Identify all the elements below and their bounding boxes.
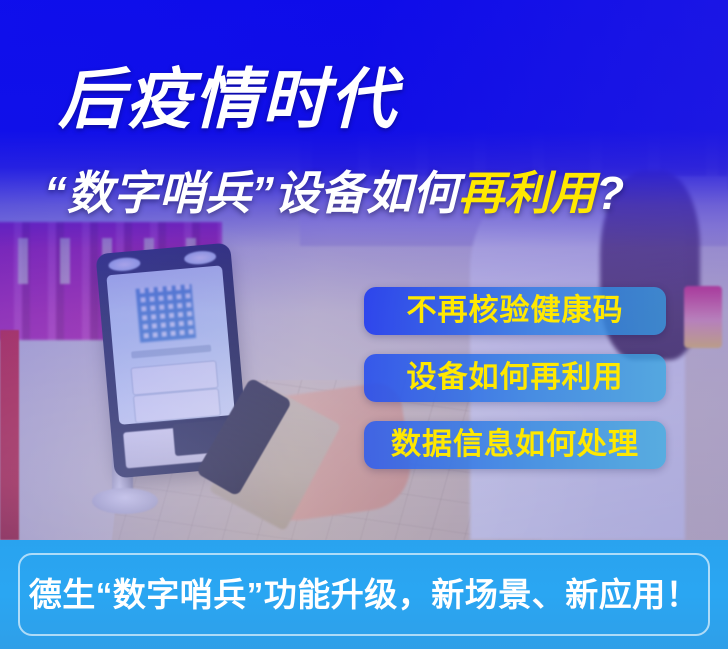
headline-line-1: 后疫情时代: [58, 66, 398, 132]
bottom-banner-frame: 德生“数字哨兵”功能升级，新场景、新应用！: [18, 553, 710, 636]
feature-pill[interactable]: 设备如何再利用: [364, 354, 666, 402]
feature-pill-label: 设备如何再利用: [407, 363, 624, 393]
poster: 后疫情时代 “数字哨兵”设备如何再利用? 不再核验健康码 设备如何再利用 数据信…: [0, 0, 728, 649]
headline-line-2-suffix: ?: [596, 167, 624, 219]
feature-pill-list: 不再核验健康码 设备如何再利用 数据信息如何处理: [364, 287, 666, 488]
bottom-banner: 德生“数字哨兵”功能升级，新场景、新应用！: [0, 540, 728, 649]
headline-line-2: “数字哨兵”设备如何再利用?: [44, 170, 624, 216]
headline-line-2-prefix: “数字哨兵”设备如何: [44, 167, 458, 219]
feature-pill-label: 不再核验健康码: [407, 296, 624, 326]
bottom-banner-text: 德生“数字哨兵”功能升级，新场景、新应用！: [29, 578, 700, 611]
feature-pill[interactable]: 不再核验健康码: [364, 287, 666, 335]
feature-pill-label: 数据信息如何处理: [391, 430, 639, 460]
headline-line-2-highlight: 再利用: [458, 167, 596, 219]
feature-pill[interactable]: 数据信息如何处理: [364, 421, 666, 469]
